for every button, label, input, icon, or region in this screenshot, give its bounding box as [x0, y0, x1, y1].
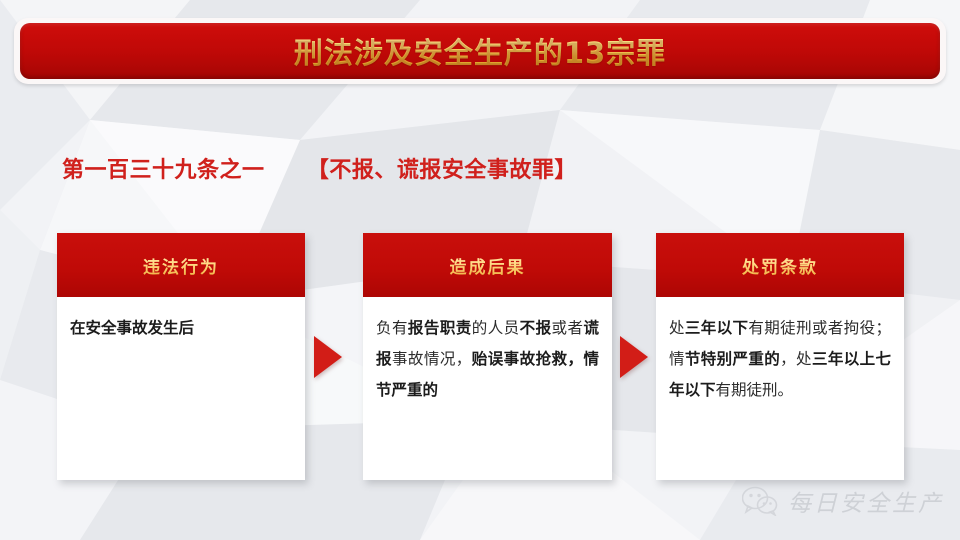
slide-title-bar: 刑法涉及安全生产的13宗罪: [14, 18, 946, 84]
card-violation: 违法行为 在安全事故发生后: [57, 233, 305, 480]
card-body: 负有报告职责的人员不报或者谎报事故情况，贻误事故抢救，情节严重的: [363, 297, 612, 406]
card-body: 在安全事故发生后: [57, 297, 305, 344]
title-bar-fill: 刑法涉及安全生产的13宗罪: [20, 23, 940, 79]
card-header-label: 违法行为: [143, 253, 219, 278]
card-header-label: 处罚条款: [742, 253, 818, 278]
right-triangle-arrow-icon: [314, 336, 342, 378]
card-consequence: 造成后果 负有报告职责的人员不报或者谎报事故情况，贻误事故抢救，情节严重的: [363, 233, 612, 480]
wechat-icon: [742, 486, 778, 516]
card-header: 造成后果: [363, 233, 612, 297]
card-penalty: 处罚条款 处三年以下有期徒刑或者拘役；情节特别严重的，处三年以上七年以下有期徒刑…: [656, 233, 904, 480]
page-title: 刑法涉及安全生产的13宗罪: [294, 30, 666, 72]
card-header: 处罚条款: [656, 233, 904, 297]
right-triangle-arrow-icon: [620, 336, 648, 378]
crime-name: 【不报、谎报安全事故罪】: [307, 158, 577, 183]
presentation-slide: 刑法涉及安全生产的13宗罪 第一百三十九条之一 【不报、谎报安全事故罪】 违法行…: [0, 0, 960, 540]
watermark-label: 每日安全生产: [788, 484, 944, 518]
watermark: 每日安全生产: [742, 484, 944, 518]
article-number: 第一百三十九条之一: [62, 158, 265, 183]
card-body: 处三年以下有期徒刑或者拘役；情节特别严重的，处三年以上七年以下有期徒刑。: [656, 297, 904, 406]
article-subtitle: 第一百三十九条之一 【不报、谎报安全事故罪】: [62, 152, 577, 184]
card-header: 违法行为: [57, 233, 305, 297]
card-header-label: 造成后果: [450, 253, 526, 278]
